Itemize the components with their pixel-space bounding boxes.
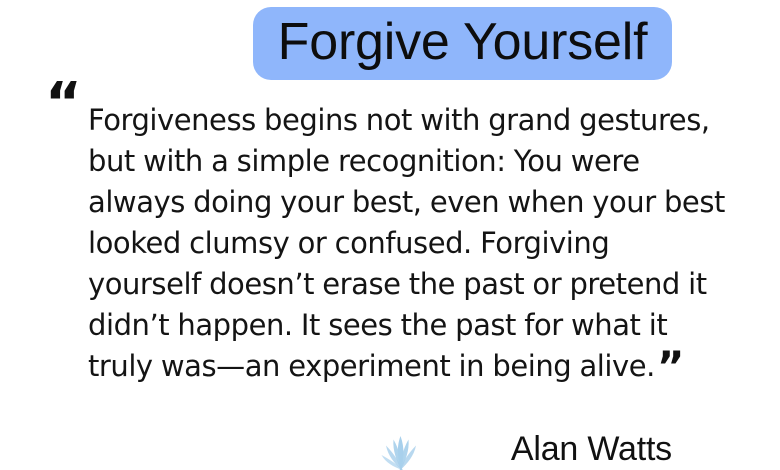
leaf-fan-icon (378, 432, 424, 470)
quote-body: Forgiveness begins not with grand gestur… (88, 100, 728, 387)
quote-card: Forgive Yourself “ Forgiveness begins no… (0, 0, 780, 470)
title-banner: Forgive Yourself (253, 7, 672, 80)
leaf-fan-svg (378, 432, 424, 470)
quote-body-text: Forgiveness begins not with grand gestur… (88, 103, 725, 383)
open-quote-icon: “ (45, 76, 81, 132)
page-title: Forgive Yourself (278, 16, 648, 71)
author-name: Alan Watts (511, 430, 672, 469)
close-quote-icon: ” (657, 342, 684, 391)
